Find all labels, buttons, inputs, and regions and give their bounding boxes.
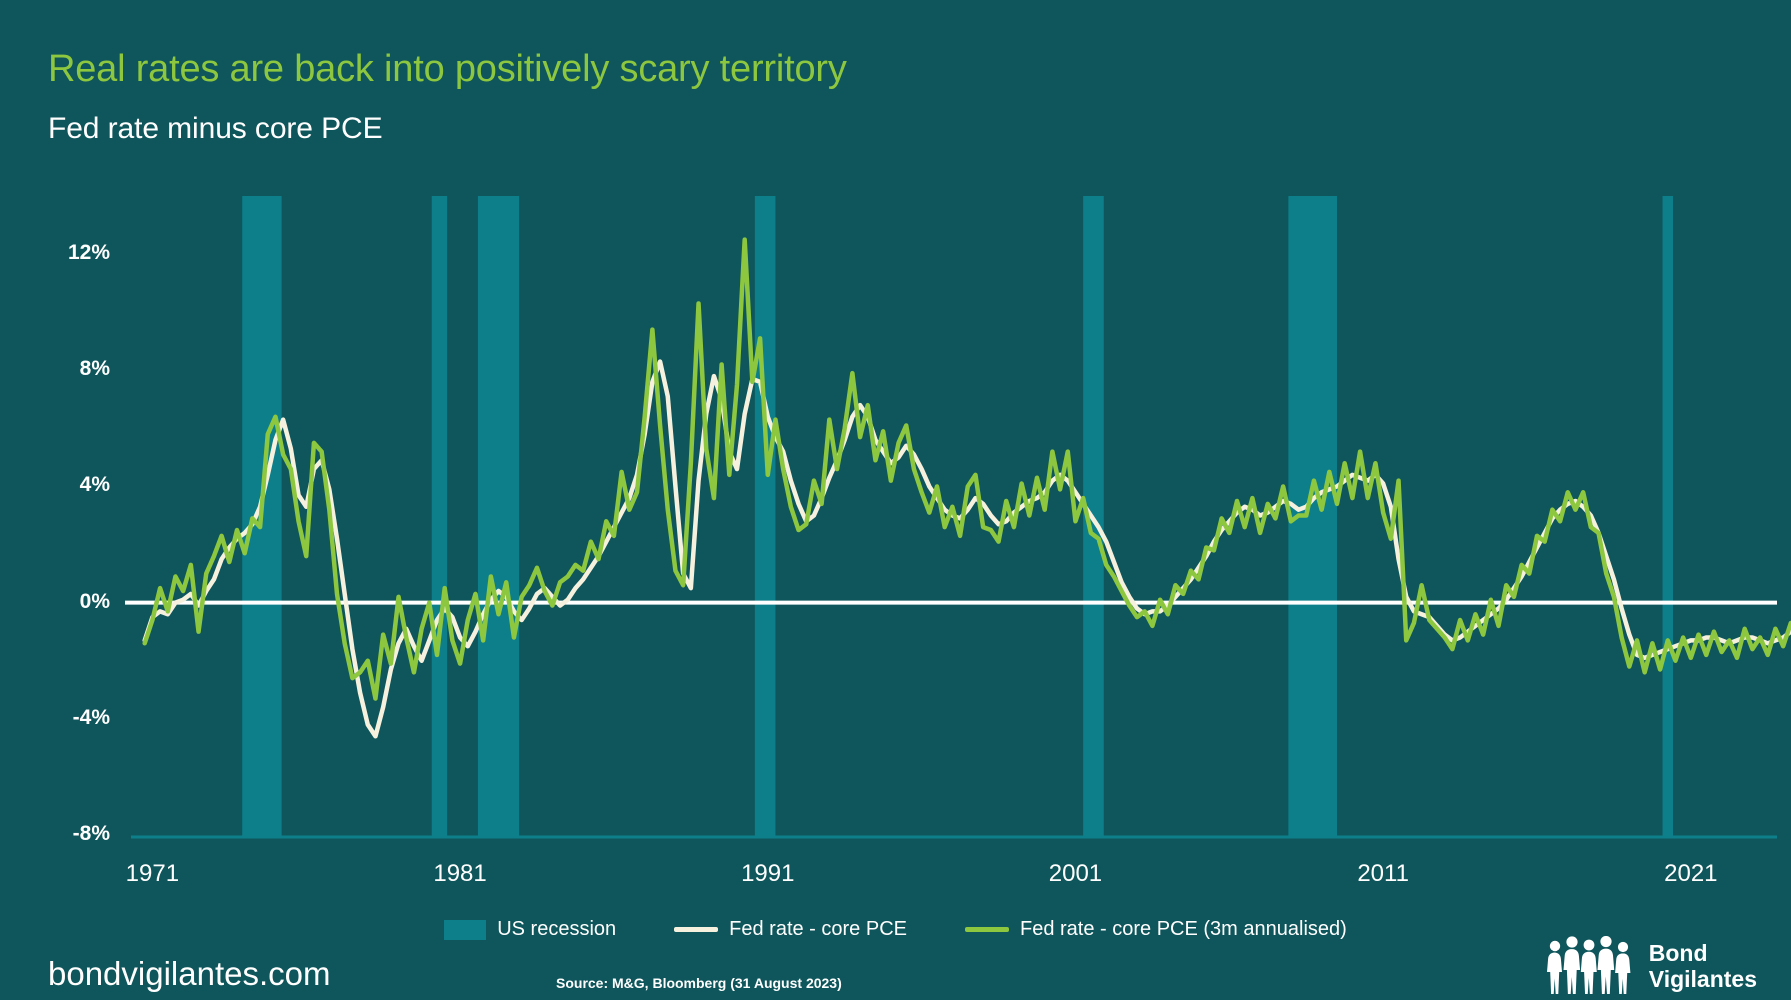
recession-band	[478, 196, 519, 837]
y-axis-tick: 8%	[20, 357, 110, 381]
chart-plot-area: 12%8%4%0%-4%-8% 197119811991200120112021	[0, 0, 1791, 1000]
y-axis-tick: -8%	[20, 822, 110, 846]
recession-band	[432, 196, 447, 837]
legend-swatch-box	[444, 920, 486, 940]
x-axis-tick: 1981	[390, 860, 530, 888]
series-line	[145, 362, 1791, 745]
brand-name: Bond Vigilantes	[1649, 940, 1757, 992]
brand-logo: Bond Vigilantes	[1543, 936, 1757, 996]
recession-band	[1663, 196, 1673, 837]
x-axis-tick: 2021	[1621, 860, 1761, 888]
brand-line-1: Bond	[1649, 940, 1757, 966]
legend-label: US recession	[497, 918, 616, 941]
y-axis-tick: 4%	[20, 473, 110, 497]
x-axis-tick: 1971	[82, 860, 222, 888]
legend-swatch-line	[674, 927, 718, 932]
legend-swatch-line	[965, 927, 1009, 932]
y-axis-tick: 0%	[20, 590, 110, 614]
chart-legend: US recessionFed rate - core PCEFed rate …	[0, 918, 1791, 941]
legend-item[interactable]: US recession	[444, 918, 616, 941]
recession-band	[755, 196, 776, 837]
x-axis-tick: 1991	[698, 860, 838, 888]
chart-svg	[0, 0, 1791, 1000]
people-group-icon	[1543, 936, 1635, 996]
website-label: bondvigilantes.com	[48, 955, 331, 993]
legend-item[interactable]: Fed rate - core PCE	[674, 918, 907, 941]
legend-label: Fed rate - core PCE (3m annualised)	[1020, 918, 1347, 941]
source-note: Source: M&G, Bloomberg (31 August 2023)	[556, 975, 842, 991]
brand-line-2: Vigilantes	[1649, 966, 1757, 992]
series-line	[145, 240, 1791, 789]
legend-label: Fed rate - core PCE	[729, 918, 907, 941]
x-axis-tick: 2001	[1005, 860, 1145, 888]
legend-item[interactable]: Fed rate - core PCE (3m annualised)	[965, 918, 1347, 941]
y-axis-tick: 12%	[20, 241, 110, 265]
y-axis-tick: -4%	[20, 706, 110, 730]
x-axis-tick: 2011	[1313, 860, 1453, 888]
